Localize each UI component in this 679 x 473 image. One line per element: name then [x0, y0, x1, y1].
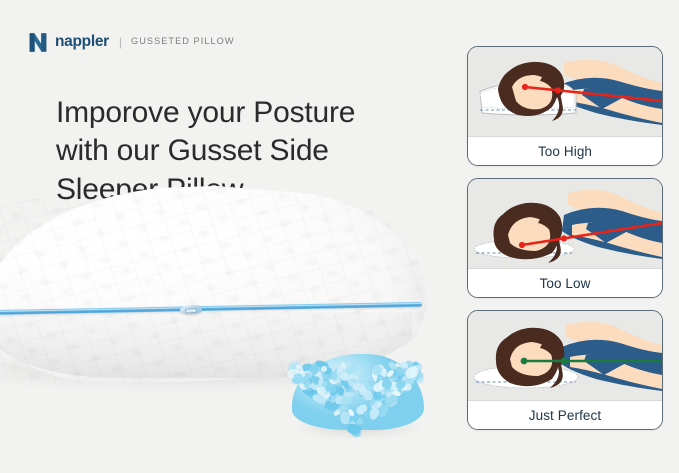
brand-tagline: GUSSETED PILLOW — [131, 37, 235, 46]
sleeper-too-low-diagram — [468, 179, 662, 269]
card-label-too-high: Too High — [468, 136, 662, 165]
card-label-just-perfect: Just Perfect — [468, 400, 662, 429]
posture-comparison-cards: Too High — [467, 46, 662, 442]
foam-chunks — [288, 352, 428, 438]
sleeper-too-high-diagram — [468, 47, 662, 137]
sleeper-just-perfect-diagram — [468, 311, 662, 401]
headline-line-2: with our Gusset Side — [56, 132, 446, 170]
comparison-card-too-low[interactable]: Too Low — [467, 178, 663, 298]
illustration-just-perfect — [468, 311, 662, 401]
brand-name: nappler — [55, 34, 109, 50]
product-infographic: nappler | GUSSETED PILLOW Imporove your … — [0, 0, 679, 473]
comparison-card-too-high[interactable]: Too High — [467, 46, 663, 166]
card-label-too-low: Too Low — [468, 268, 662, 297]
illustration-too-high — [468, 47, 662, 137]
comparison-card-just-perfect[interactable]: Just Perfect — [467, 310, 663, 430]
shredded-memory-foam-pile — [288, 352, 428, 438]
headline-line-1: Imporove your Posture — [56, 94, 446, 132]
foam-chunk — [339, 411, 351, 425]
nappler-n-logo-icon — [28, 32, 48, 53]
brand-separator: | — [119, 36, 122, 48]
brand-lockup: nappler | GUSSETED PILLOW — [28, 31, 235, 53]
illustration-too-low — [468, 179, 662, 269]
